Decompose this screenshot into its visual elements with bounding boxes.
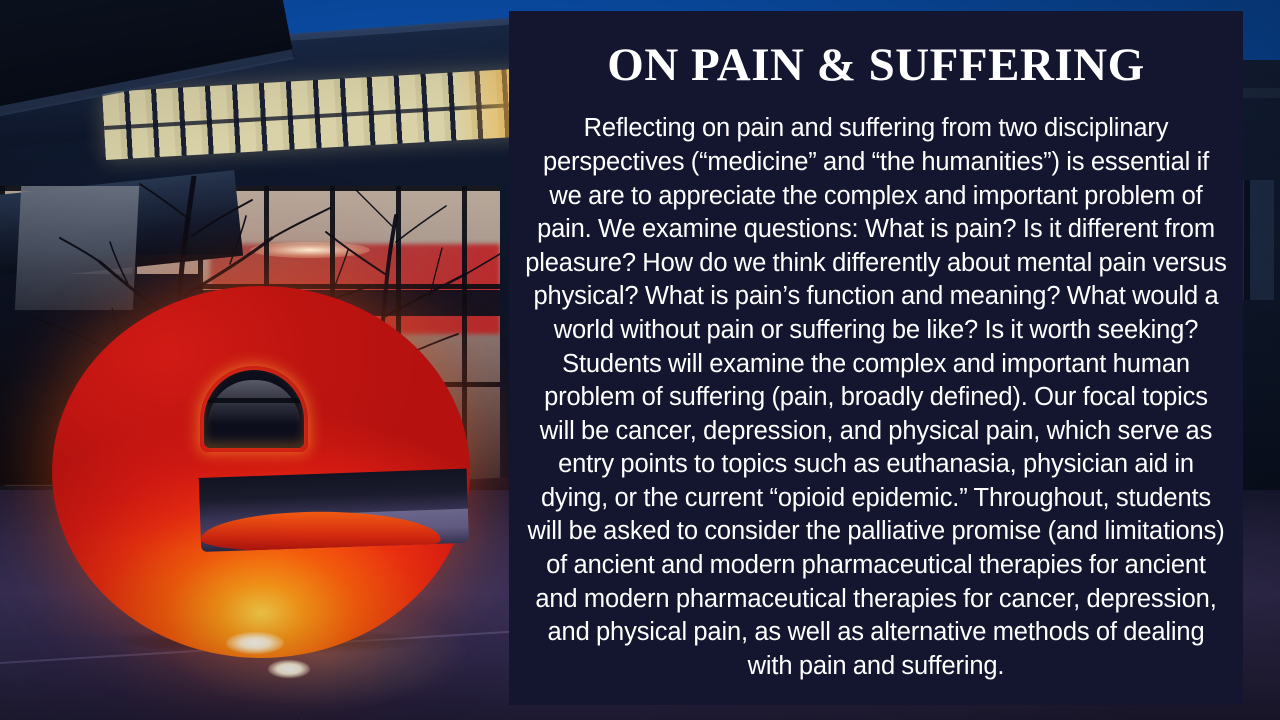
red-e-sculpture	[52, 286, 470, 658]
text-panel: ON PAIN & SUFFERING Reflecting on pain a…	[509, 11, 1243, 705]
course-description-text: Reflecting on pain and suffering from tw…	[519, 90, 1233, 683]
presentation-slide: ON PAIN & SUFFERING Reflecting on pain a…	[0, 0, 1280, 720]
ground-uplight-primary	[226, 632, 284, 654]
counter-crossbar	[204, 398, 304, 403]
ground-uplight-secondary	[268, 660, 310, 678]
sculpture-mouth-opening	[199, 469, 469, 552]
page-title: ON PAIN & SUFFERING	[519, 11, 1233, 90]
